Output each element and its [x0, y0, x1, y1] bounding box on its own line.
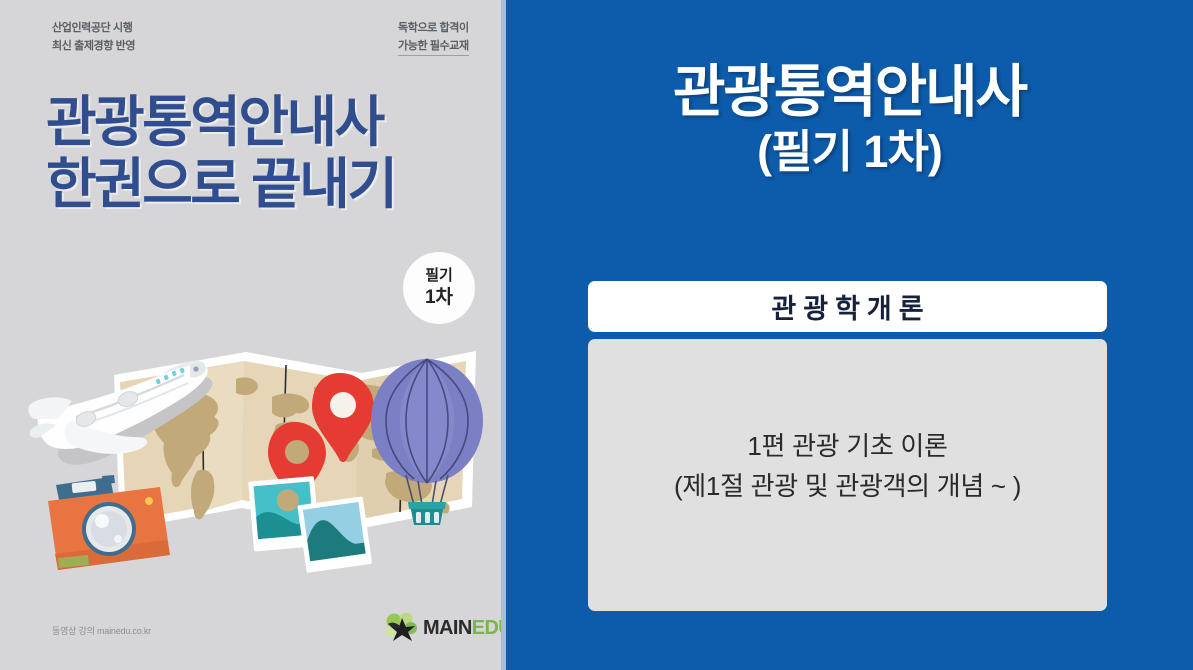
- cover-kicker-right: 독학으로 합격이 가능한 필수교재: [398, 19, 469, 56]
- logo-text-main: MAIN: [423, 617, 472, 639]
- camera-icon: [48, 475, 170, 570]
- photo-icon-2: [297, 496, 372, 573]
- cover-kicker-left: 산업인력공단 시행 최신 출제경향 반영: [52, 19, 135, 55]
- mainedu-leaf-icon: [385, 612, 419, 644]
- subject-header-box: 관광학개론: [588, 281, 1107, 332]
- cover-kicker-left-line1: 산업인력공단 시행: [52, 19, 135, 37]
- cover-title: 관광통역안내사 한권으로 끝내기: [46, 92, 476, 215]
- presentation-slide: 산업인력공단 시행 최신 출제경향 반영 독학으로 합격이 가능한 필수교재 관…: [0, 0, 1193, 670]
- travel-illustration-svg: [14, 325, 494, 580]
- cover-title-line-1: 관광통역안내사: [46, 92, 476, 154]
- slide-title-sub: (필기 1차): [506, 126, 1193, 178]
- subject-label: 관광학개론: [764, 287, 930, 326]
- cover-kicker-left-line2: 최신 출제경향 반영: [52, 37, 135, 55]
- cover-kicker-right-line1: 독학으로 합격이: [398, 19, 469, 37]
- cover-badge-line2: 1차: [425, 286, 453, 309]
- content-line-2: (제1절 관광 및 관광객의 개념 ~ ): [674, 466, 1021, 506]
- cover-title-line-2: 한권으로 끝내기: [46, 154, 476, 216]
- travel-illustration: [14, 325, 494, 580]
- cover-footer-text: 동영상 강의 mainedu.co.kr: [52, 624, 151, 637]
- cover-exam-badge: 필기 1차: [403, 252, 475, 324]
- cover-badge-line1: 필기: [425, 267, 453, 285]
- content-box: 1편 관광 기초 이론 (제1절 관광 및 관광객의 개념 ~ ): [588, 339, 1107, 611]
- slide-content-panel: 관광통역안내사 (필기 1차) 관광학개론 1편 관광 기초 이론 (제1절 관…: [506, 0, 1193, 670]
- cover-kicker-right-line2: 가능한 필수교재: [398, 37, 469, 56]
- mainedu-logo: MAINEDU: [385, 612, 506, 644]
- book-cover-image: 산업인력공단 시행 최신 출제경향 반영 독학으로 합격이 가능한 필수교재 관…: [0, 0, 506, 670]
- slide-title-main: 관광통역안내사: [506, 62, 1193, 124]
- content-line-1: 1편 관광 기초 이론: [747, 426, 947, 466]
- slide-title: 관광통역안내사 (필기 1차): [506, 62, 1193, 177]
